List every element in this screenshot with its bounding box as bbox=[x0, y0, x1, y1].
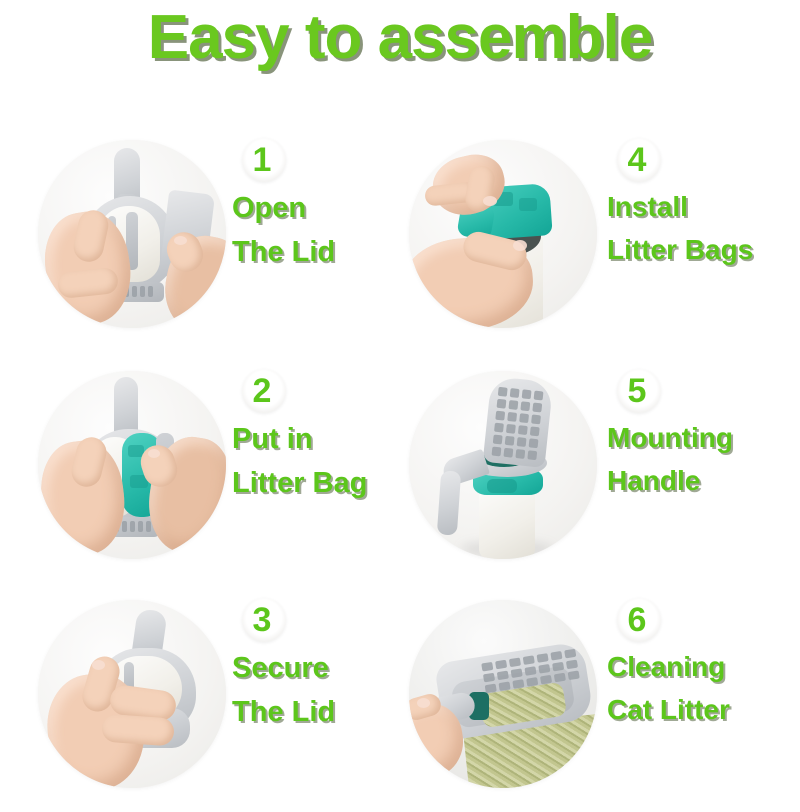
step-5-caption: 5 Mounting Handle bbox=[607, 367, 797, 500]
step-4-caption: 4 Install Litter Bags bbox=[607, 136, 797, 269]
step-2-number-badge: 2 bbox=[238, 367, 286, 415]
illustration-mounting-handle bbox=[409, 371, 597, 559]
step-4-label-line2: Litter Bags bbox=[607, 231, 797, 270]
step-5-label-line1: Mounting bbox=[607, 419, 797, 458]
step-4-number-badge: 4 bbox=[613, 136, 661, 184]
step-2-caption: 2 Put in Litter Bag bbox=[232, 367, 400, 503]
step-4-label-line1: Install bbox=[607, 188, 797, 227]
illustration-put-in-litter-bag bbox=[38, 371, 226, 559]
step-6: 6 Cleaning Cat Litter bbox=[395, 582, 795, 812]
step-6-photo bbox=[409, 600, 597, 788]
step-5: 5 Mounting Handle bbox=[395, 353, 795, 583]
step-3-photo bbox=[38, 600, 226, 788]
step-5-number-badge: 5 bbox=[613, 367, 661, 415]
step-1-photo bbox=[38, 140, 226, 328]
step-6-label-line1: Cleaning bbox=[607, 648, 797, 687]
step-3-caption: 3 Secure The Lid bbox=[232, 596, 400, 732]
step-4: 4 Install Litter Bags bbox=[395, 122, 795, 352]
illustration-secure-the-lid bbox=[38, 600, 226, 788]
step-6-caption: 6 Cleaning Cat Litter bbox=[607, 596, 797, 729]
step-2-label-line2: Litter Bag bbox=[232, 463, 400, 503]
steps-grid: 1 Open The Lid bbox=[0, 110, 800, 800]
illustration-cleaning-cat-litter bbox=[409, 600, 597, 788]
step-6-number-badge: 6 bbox=[613, 596, 661, 644]
step-2-photo bbox=[38, 371, 226, 559]
step-5-label-line2: Handle bbox=[607, 462, 797, 501]
illustration-install-litter-bags bbox=[409, 140, 597, 328]
step-1-label-line2: The Lid bbox=[232, 232, 400, 272]
page-title: Easy to assemble bbox=[0, 2, 800, 73]
step-6-label-line2: Cat Litter bbox=[607, 691, 797, 730]
step-1-label-line1: Open bbox=[232, 188, 400, 228]
step-1: 1 Open The Lid bbox=[0, 122, 400, 352]
step-3-label-line2: The Lid bbox=[232, 692, 400, 732]
step-2-label-line1: Put in bbox=[232, 419, 400, 459]
illustration-open-the-lid bbox=[38, 140, 226, 328]
step-5-photo bbox=[409, 371, 597, 559]
step-1-number-badge: 1 bbox=[238, 136, 286, 184]
step-1-caption: 1 Open The Lid bbox=[232, 136, 400, 272]
step-4-photo bbox=[409, 140, 597, 328]
step-3-number-badge: 3 bbox=[238, 596, 286, 644]
step-3: 3 Secure The Lid bbox=[0, 582, 400, 812]
step-2: 2 Put in Litter Bag bbox=[0, 353, 400, 583]
step-3-label-line1: Secure bbox=[232, 648, 400, 688]
